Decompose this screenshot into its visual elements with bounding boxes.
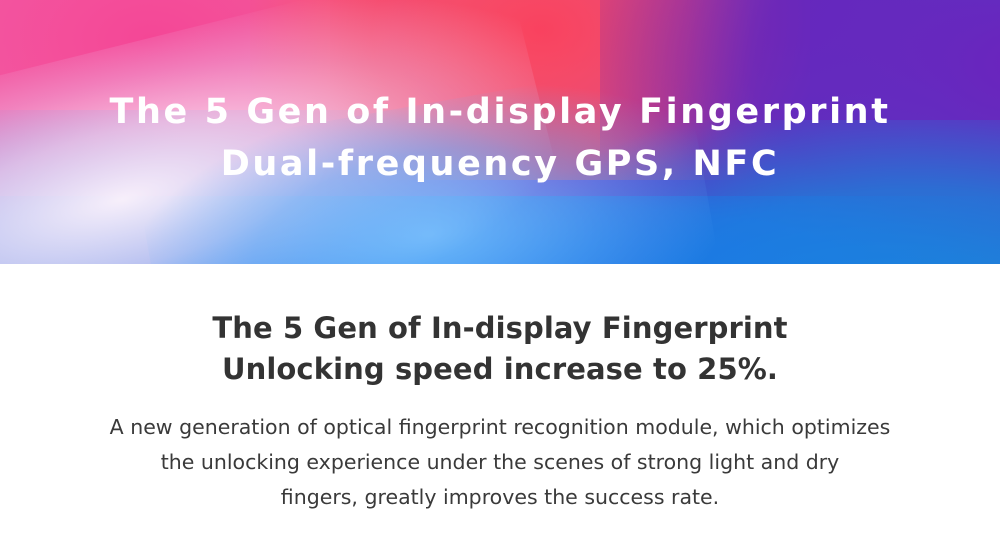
body-paragraph-line-2: the unlocking experience under the scene… [60, 445, 940, 480]
body-paragraph: A new generation of optical fingerprint … [60, 410, 940, 515]
body-heading-line-2: Unlocking speed increase to 25%. [212, 349, 787, 390]
body-paragraph-line-3: fingers, greatly improves the success ra… [60, 480, 940, 515]
hero-title-block: The 5 Gen of In-display Fingerprint Dual… [0, 0, 1000, 264]
hero-title-line-2: Dual-frequency GPS, NFC [221, 138, 779, 190]
hero-title-line-1: The 5 Gen of In-display Fingerprint [109, 86, 890, 138]
hero-banner: The 5 Gen of In-display Fingerprint Dual… [0, 0, 1000, 264]
feature-banner-page: The 5 Gen of In-display Fingerprint Dual… [0, 0, 1000, 555]
body-paragraph-line-1: A new generation of optical fingerprint … [60, 410, 940, 445]
body-heading-line-1: The 5 Gen of In-display Fingerprint [212, 308, 787, 349]
body-content-section: The 5 Gen of In-display Fingerprint Unlo… [0, 264, 1000, 555]
body-heading: The 5 Gen of In-display Fingerprint Unlo… [212, 308, 787, 390]
